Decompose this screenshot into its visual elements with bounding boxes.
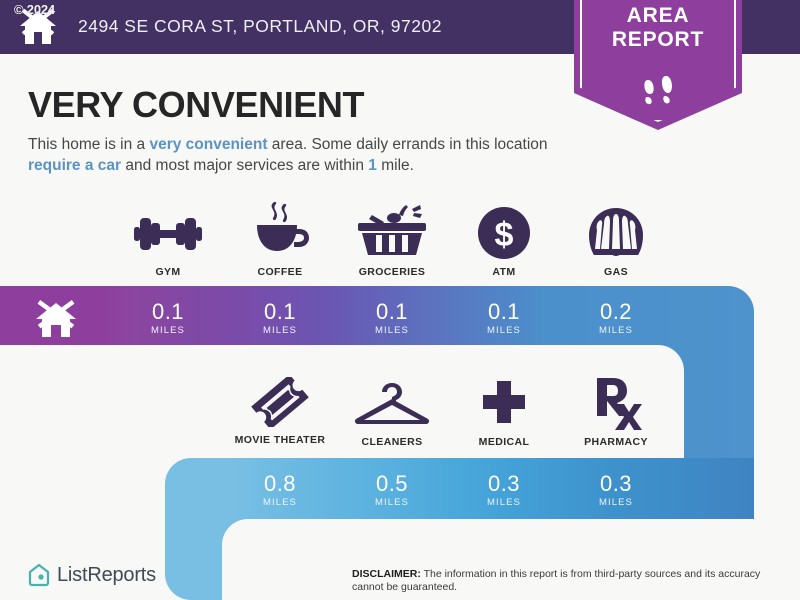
logo-text: ListReports <box>57 564 156 587</box>
ticket-icon <box>224 376 336 428</box>
amenity-label: GYM <box>112 266 224 278</box>
distance-value-pharmacy: 0.3 MILES <box>560 472 672 508</box>
home-marker <box>0 288 112 352</box>
badge-title-line2: REPORT <box>612 28 704 51</box>
distance-value-medical: 0.3 MILES <box>448 472 560 508</box>
amenity-label: MOVIE THEATER <box>224 434 336 446</box>
disclaimer: DISCLAIMER: The information in this repo… <box>352 568 782 594</box>
area-report-infographic: © 2024 2494 SE CORA ST, PORTLAND, OR, 97… <box>0 0 800 600</box>
blurb-highlight-convenient: very convenient <box>149 136 267 153</box>
amenity-movie-theater: MOVIE THEATER <box>224 376 336 446</box>
blurb-part3: and most major services are within <box>121 157 368 174</box>
rx-icon <box>560 374 672 430</box>
summary-paragraph: This home is in a very convenient area. … <box>28 134 573 176</box>
property-address: 2494 SE CORA ST, PORTLAND, OR, 97202 <box>78 16 442 37</box>
grocery-basket-icon <box>336 202 448 260</box>
distance-unit: MILES <box>560 497 672 508</box>
amenity-groceries: GROCERIES <box>336 202 448 278</box>
dollar-circle-icon: $ <box>448 206 560 260</box>
blurb-part1: This home is in a <box>28 136 149 153</box>
distance-unit: MILES <box>336 325 448 336</box>
amenity-label: GAS <box>560 266 672 278</box>
distance-unit: MILES <box>224 497 336 508</box>
hanger-icon <box>336 378 448 430</box>
svg-text:$: $ <box>495 216 514 254</box>
distance-number: 0.1 <box>224 300 336 324</box>
coffee-cup-icon <box>224 200 336 260</box>
distance-number: 0.5 <box>336 472 448 496</box>
amenity-label: CLEANERS <box>336 436 448 448</box>
area-report-badge: AREA REPORT <box>574 0 742 130</box>
copyright-watermark: © 2024 <box>14 2 55 17</box>
listreports-logo: ListReports <box>28 563 156 587</box>
distance-unit: MILES <box>560 325 672 336</box>
distance-unit: MILES <box>224 325 336 336</box>
distance-number: 0.8 <box>224 472 336 496</box>
distance-unit: MILES <box>448 497 560 508</box>
distance-unit: MILES <box>336 497 448 508</box>
distance-number: 0.3 <box>560 472 672 496</box>
amenity-atm: $ ATM <box>448 206 560 278</box>
blurb-highlight-car: require a car <box>28 157 121 174</box>
amenity-medical: MEDICAL <box>448 378 560 448</box>
shell-icon <box>560 206 672 260</box>
distance-value-atm: 0.1 MILES <box>448 300 560 336</box>
home-icon <box>33 300 79 340</box>
amenity-label: PHARMACY <box>560 436 672 448</box>
listreports-house-icon <box>28 563 50 587</box>
medical-cross-icon <box>448 378 560 430</box>
distance-unit: MILES <box>448 325 560 336</box>
distance-unit: MILES <box>112 325 224 336</box>
distance-value-gym: 0.1 MILES <box>112 300 224 336</box>
distance-number: 0.1 <box>448 300 560 324</box>
amenity-label: ATM <box>448 266 560 278</box>
disclaimer-label: DISCLAIMER: <box>352 568 421 580</box>
distance-number: 0.3 <box>448 472 560 496</box>
distance-number: 0.1 <box>112 300 224 324</box>
amenity-label: GROCERIES <box>336 266 448 278</box>
amenity-label: COFFEE <box>224 266 336 278</box>
page-title: VERY CONVENIENT <box>28 84 364 126</box>
badge-title-line1: AREA <box>627 4 690 27</box>
amenity-label: MEDICAL <box>448 436 560 448</box>
distance-value-gas: 0.2 MILES <box>560 300 672 336</box>
footprints-icon <box>642 74 680 106</box>
amenity-gas: GAS <box>560 206 672 278</box>
blurb-highlight-distance: 1 <box>368 157 377 174</box>
badge-title: AREA REPORT <box>574 4 742 52</box>
distance-value-coffee: 0.1 MILES <box>224 300 336 336</box>
distance-value-movie-theater: 0.8 MILES <box>224 472 336 508</box>
distance-number: 0.1 <box>336 300 448 324</box>
blurb-part2: area. Some daily errands in this locatio… <box>268 136 548 153</box>
blurb-part4: mile. <box>377 157 414 174</box>
distance-number: 0.2 <box>560 300 672 324</box>
amenity-cleaners: CLEANERS <box>336 378 448 448</box>
amenity-gym: GYM <box>112 208 224 278</box>
amenity-pharmacy: PHARMACY <box>560 374 672 448</box>
amenity-coffee: COFFEE <box>224 200 336 278</box>
distance-value-groceries: 0.1 MILES <box>336 300 448 336</box>
dumbbell-icon <box>112 208 224 260</box>
distance-value-cleaners: 0.5 MILES <box>336 472 448 508</box>
